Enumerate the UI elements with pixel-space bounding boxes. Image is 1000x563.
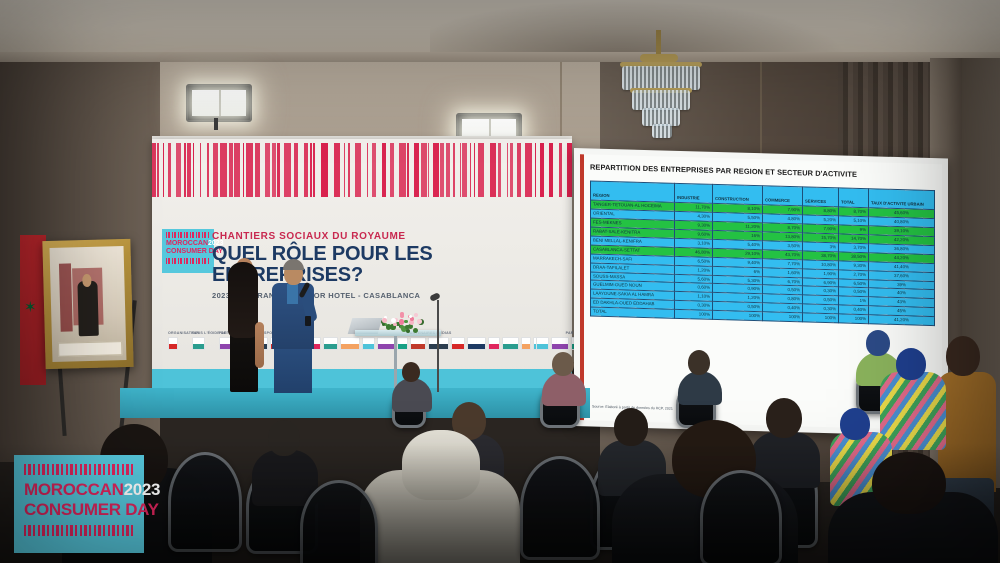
flag-star-icon: ✶ [24,300,37,315]
barcode-stripe [348,143,350,197]
audience-head [552,352,574,376]
badge-moroccan: MOROCCAN [24,480,124,499]
badge-consumer-day: CONSUMER DAY [24,500,134,520]
sponsor-logo [168,337,178,350]
event-backdrop: MOROCCAN2023 CONSUMER DAY CHANTIERS SOCI… [152,139,572,395]
column-header-2: CONSTRUCTION [713,184,763,204]
region-sector-table: REGIONINDUSTRIECONSTRUCTIONCOMMERCESERVI… [590,180,935,326]
column-header-3: COMMERCE [763,186,803,206]
barcode-stripe [265,143,270,197]
foreground-head [872,452,946,514]
barcode-stripe [390,143,394,197]
flower-bloom [417,319,422,324]
barcode-stripe [525,143,532,197]
barcode-stripe [470,143,471,197]
audience-shoulders [392,378,432,412]
speaker-man-legs [274,347,312,393]
barcode-stripe [220,143,227,197]
audience-head [866,330,890,356]
flower-arrangement [378,310,422,334]
table-body: TANGER-TETOUAN-AL HOCEIMA11,70%8,10%7,90… [591,200,935,326]
barcode-stripe [440,143,444,197]
barcode-row-icon [24,525,134,536]
foliage [413,328,418,333]
badge-year: 2023 [124,480,161,499]
sponsor-logo [521,337,531,350]
barcode-stripe [407,143,409,197]
barcode-stripe [474,143,475,197]
barcode-stripe [490,143,496,197]
barcode-stripe [414,143,419,197]
sponsor-logo [502,337,519,350]
cell-r12-c1: 100% [675,310,713,320]
backdrop-title-block: CHANTIERS SOCIAUX DU ROYAUME QUEL RÔLE P… [212,231,552,300]
sponsor-logo [551,337,569,350]
foliage [386,324,391,329]
speaker-woman-arm [255,322,264,368]
barcode-stripe [294,143,298,197]
column-header-4: SERVICES [803,187,839,207]
speaker-woman-hair [228,262,258,338]
barcode-stripe [355,143,361,197]
barcode-stripe [453,143,455,197]
barcode-row-icon [24,464,134,475]
stage-light-left [186,84,252,122]
barcode-stripe [304,143,308,197]
backdrop-overline: CHANTIERS SOCIAUX DU ROYAUME [212,231,552,242]
flower-bloom [400,314,404,318]
barcode-stripe [193,143,194,197]
barcode-stripe [157,143,159,197]
foliage [405,325,409,329]
microphone-stand [437,300,439,392]
barcode-stripe [207,143,209,197]
barcode-stripe [367,143,368,197]
barcode-stripe [313,143,315,197]
standing-person-shirt [938,372,996,492]
cell-r12-c0: TOTAL [591,307,675,318]
barcode-stripe [310,143,312,197]
backdrop-subline: 2023 - LE GRAND MOGADOR HOTEL - CASABLAN… [212,291,552,300]
barcode-stripe [372,143,376,197]
table-leg [394,336,397,388]
barcode-stripe [428,143,429,197]
striped-clothing [880,372,946,450]
foliage [404,320,407,323]
barcode-stripe [234,143,240,197]
barcode-stripe [549,143,553,197]
slide-title: REPARTITION DES ENTREPRISES PAR REGION E… [590,162,857,178]
stage-light-left-stem [214,118,218,130]
sponsor-logo [488,337,500,350]
flower-bloom [414,313,418,317]
sponsor-logo [397,337,408,350]
sponsor-logo [410,337,426,350]
backdrop-headline: QUEL RÔLE POUR LES ENTREPRISES? [212,244,552,286]
cell-r12-c5: 100% [839,314,869,324]
barcode-stripe [243,143,244,197]
cell-r12-c3: 100% [763,312,803,322]
sponsor-logo [323,337,338,350]
barcode-stripe [498,143,501,197]
royal-portrait [42,239,133,369]
barcode-stripe [200,143,201,197]
cell-r12-c6: 41,20% [869,315,935,326]
sponsor-logo [451,337,465,350]
barcode-stripe [433,143,439,197]
cell-r12-c4: 100% [803,313,839,323]
barcode-stripe [284,143,291,197]
barcode-stripe [213,143,218,197]
barcode-row-icon [166,258,210,264]
speaker-phone-device [305,316,311,326]
crystal-chandelier [604,30,724,150]
sponsor-logo [340,337,360,350]
backdrop-event-logo: MOROCCAN2023 CONSUMER DAY [162,229,214,273]
sponsor-logo [536,337,549,350]
column-header-0: REGION [591,181,675,202]
barcode-graphic-top [152,143,572,197]
knit-hat [402,430,480,500]
barcode-stripe [321,143,328,197]
audience-head [614,408,648,446]
sponsor-logo [377,337,395,350]
barcode-stripe [344,143,345,197]
flower-bloom [393,323,397,327]
conference-photo-scene: MOROCCAN2023 CONSUMER DAY CHANTIERS SOCI… [0,0,1000,563]
event-badge-overlay: MOROCCAN2023 CONSUMER DAY [14,455,144,553]
sponsor-logo [467,337,486,350]
audience-head [766,398,802,438]
barcode-stripe [421,143,427,197]
audience-head [402,362,420,382]
column-header-1: INDUSTRIE [675,183,713,203]
barcode-stripe [272,143,276,197]
barcode-stripe [399,143,406,197]
backdrop-logo-moroccan: MOROCCAN [166,240,208,247]
headscarf-blue [840,408,870,440]
sponsor-logo [362,337,375,350]
barcode-stripe [535,143,536,197]
foliage [406,329,410,333]
barcode-stripe [460,143,461,197]
headscarf-blue [896,348,926,380]
column-header-6: TAUX D'ACTIVITE URBAIN [869,189,935,210]
barcode-stripe [478,143,484,197]
audience-head [268,420,300,456]
column-header-5: TOTAL [839,188,869,208]
barcode-stripe [255,143,260,197]
barcode-stripe [517,143,521,197]
sponsor-logo [192,337,205,350]
barcode-stripe [462,143,467,197]
barcode-stripe [559,143,562,197]
audience-chair [168,452,242,552]
speaker-man-shirt [287,284,298,304]
barcode-stripe [277,143,280,197]
barcode-stripe [540,143,544,197]
barcode-stripe [184,143,186,197]
barcode-stripe [567,143,572,197]
standing-person-head [946,336,980,376]
barcode-stripe [246,143,253,197]
barcode-stripe [334,143,340,197]
barcode-stripe [229,143,233,197]
audience-chair [520,456,600,560]
backdrop-logo-consumer-day: CONSUMER DAY [166,248,210,256]
barcode-stripe [507,143,508,197]
cell-r12-c2: 100% [713,311,763,321]
barcode-stripe [187,143,191,197]
barcode-stripe [510,143,513,197]
sponsor-logo-zone: OrganisateurSous l'égide dePartenaire Of… [164,331,560,365]
barcode-row-icon [166,232,210,238]
flower-bloom [399,319,404,324]
stage-floor-band [120,388,590,418]
audience-head [688,350,710,375]
barcode-stripe [168,143,171,197]
barcode-stripe [163,143,164,197]
barcode-stripe [446,143,450,197]
barcode-stripe [176,143,181,197]
barcode-stripe [152,143,156,197]
audience-chair [700,470,782,563]
barcode-stripe [382,143,386,197]
